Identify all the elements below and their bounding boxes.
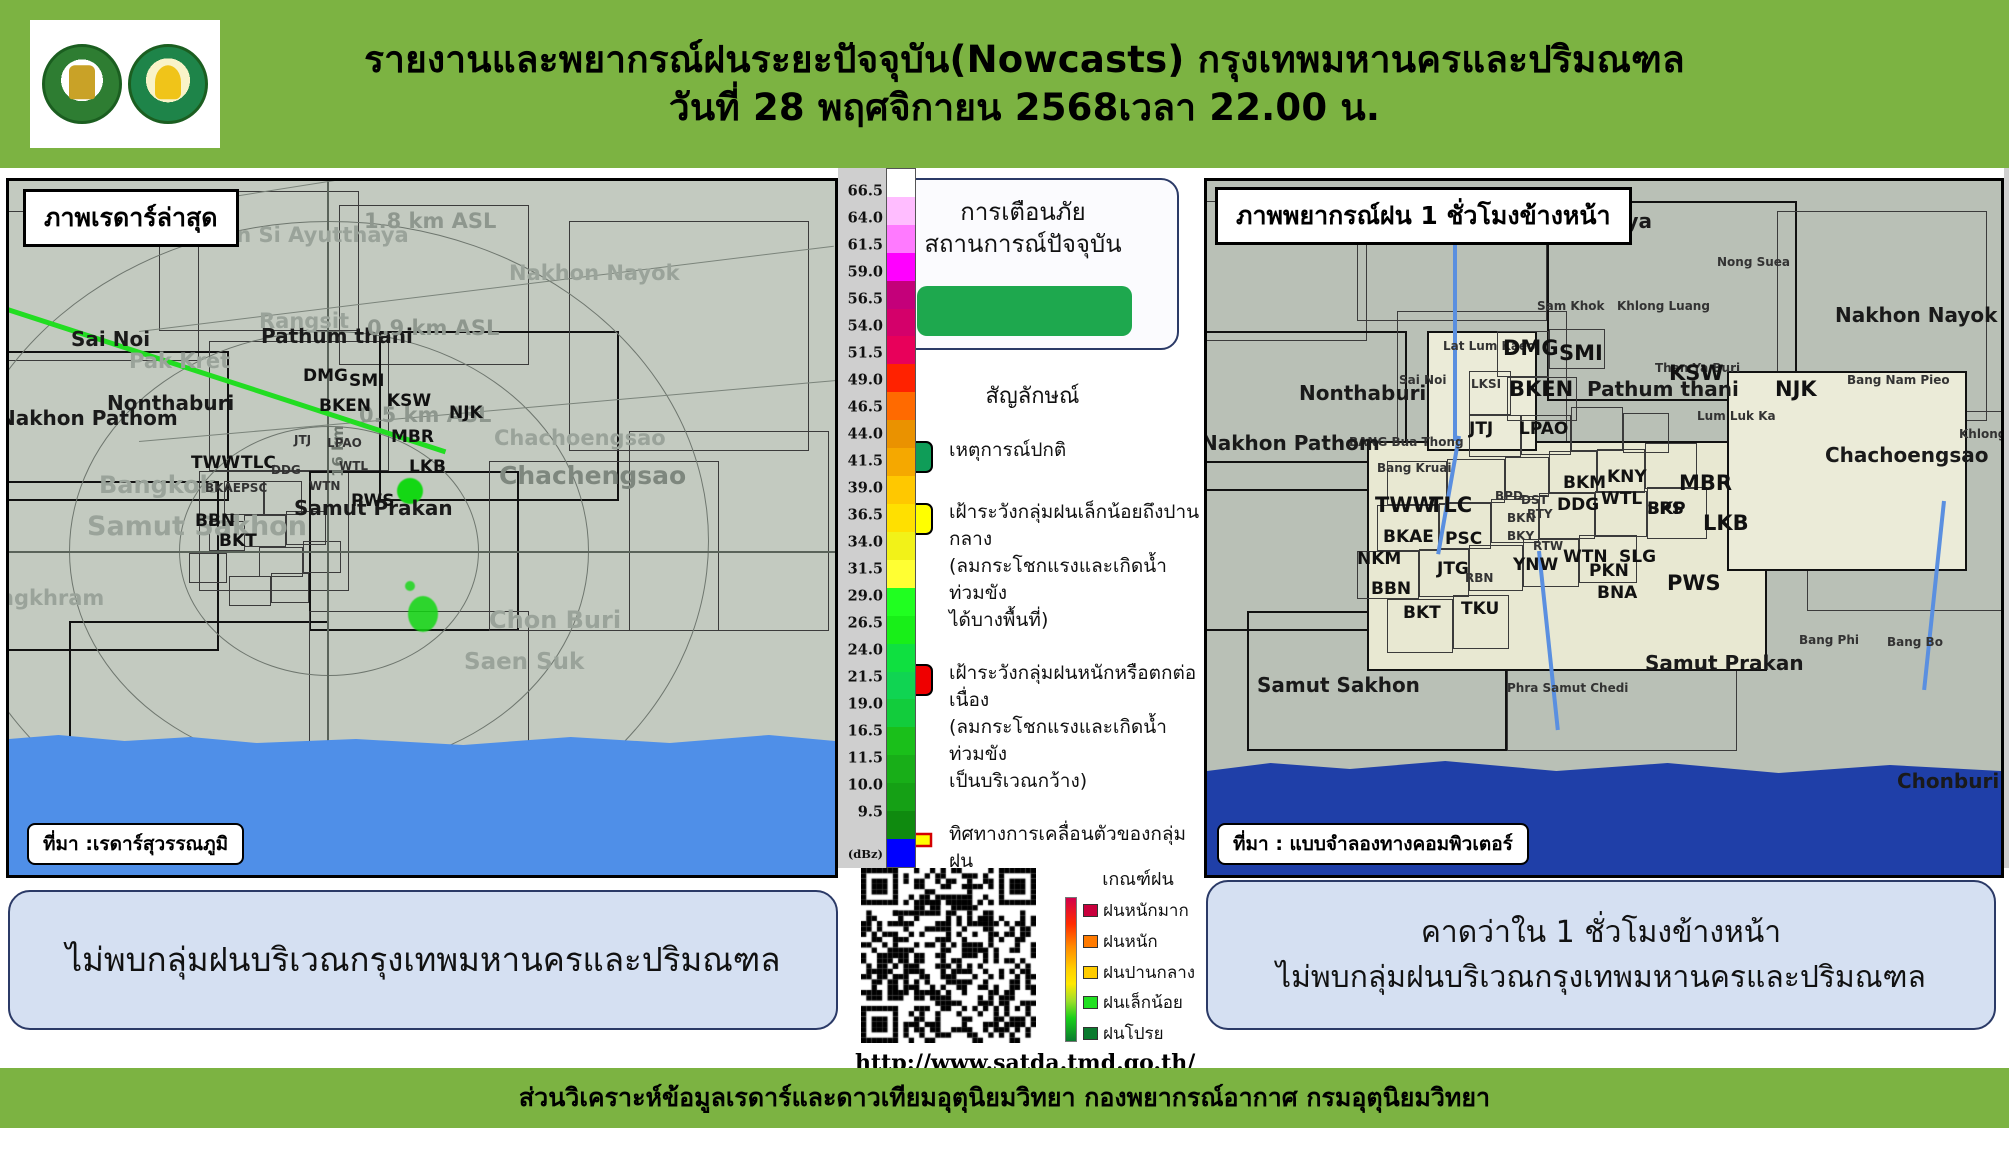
rain-label-heavy: ฝนหนัก xyxy=(1103,928,1158,955)
page-footer: ส่วนวิเคราะห์ข้อมูลเรดาร์และดาวเทียมอุตุ… xyxy=(0,1068,2009,1128)
colorbar-tick: 59.0 xyxy=(848,263,883,280)
map-label: Chachoengsao xyxy=(1825,443,1989,467)
colorbar-band xyxy=(887,309,915,337)
map-label: Bang Nam Pieo xyxy=(1847,373,1950,387)
district-code: TWW xyxy=(191,453,240,473)
rain-legend-item: ฝนโปรย xyxy=(1083,1020,1195,1047)
colorbar-tick: 31.5 xyxy=(848,560,883,577)
district-code: DDG xyxy=(271,463,301,477)
forecast-image-panel[interactable]: Suphan Buri Phra Nakhon Si Ayutthaya Non… xyxy=(1204,178,2004,878)
map-label: Sai Noi xyxy=(71,327,150,351)
district-code: BKEN xyxy=(319,396,371,416)
rain-label-drizzle: ฝนโปรย xyxy=(1103,1020,1164,1047)
map-label: Samut Prakan xyxy=(1645,651,1804,675)
district-code: RTY xyxy=(1527,507,1553,521)
radar-map-canvas: Suphan Buri Phra Nakhon Si Ayutthaya Nak… xyxy=(9,181,835,875)
district-code: RBN xyxy=(1465,571,1493,585)
map-label: Bang Kruai xyxy=(1377,461,1452,475)
district-code: MBR xyxy=(1679,471,1732,495)
colorbar-tick: 10.0 xyxy=(848,776,883,793)
main-content: Suphan Buri Phra Nakhon Si Ayutthaya Nak… xyxy=(0,168,2009,1068)
district-code: LPAO xyxy=(1519,419,1568,439)
map-label: Nakhon Pathom xyxy=(1204,431,1380,455)
colorbar-band xyxy=(887,504,915,532)
forecast-colorbar-ticks: 66.564.061.559.056.554.051.549.046.544.0… xyxy=(2004,168,2009,868)
district-code: NJK xyxy=(1775,377,1817,401)
rain-chip-heavy xyxy=(1083,935,1098,948)
map-label: Chon Buri xyxy=(489,606,621,634)
forecast-map-canvas: Suphan Buri Phra Nakhon Si Ayutthaya Non… xyxy=(1207,181,2001,875)
title-line-1: รายงานและพยากรณ์ฝนระยะปัจจุบัน(Nowcasts)… xyxy=(220,36,1829,84)
district-code: LPAO xyxy=(327,436,362,450)
rain-chip-moderate xyxy=(1083,966,1098,979)
rain-legend-item: ฝนหนักมาก xyxy=(1083,897,1195,924)
page-header: รายงานและพยากรณ์ฝนระยะปัจจุบัน(Nowcasts)… xyxy=(0,0,2009,168)
forecast-source-label: ที่มา : แบบจำลองทางคอมพิวเตอร์ xyxy=(1217,823,1529,865)
colorbar-band xyxy=(887,755,915,783)
colorbar-tick: 9.5 xyxy=(858,803,883,820)
district-code: DMG xyxy=(303,366,348,386)
map-label: Nong Suea xyxy=(1717,255,1790,269)
district-code: YNW xyxy=(1513,555,1558,575)
map-label: Lum Luk Ka xyxy=(1697,409,1776,423)
rain-legend-item: ฝนเล็กน้อย xyxy=(1083,989,1195,1016)
map-label: Nakhon Nayok xyxy=(509,261,680,285)
colorbar-band xyxy=(887,644,915,672)
district-code: KNY xyxy=(1607,467,1647,487)
qr-code[interactable] xyxy=(861,868,1036,1043)
district-code: BKT xyxy=(219,531,257,551)
colorbar-band xyxy=(887,420,915,448)
asl-label: 1.8 km ASL xyxy=(364,209,496,233)
colorbar-tick: 11.5 xyxy=(848,749,883,766)
district-code: DMG xyxy=(1503,336,1559,360)
colorbar-band xyxy=(887,616,915,644)
radar-echo-blob xyxy=(408,596,438,632)
colorbar-band xyxy=(887,169,915,197)
rain-chip-very-heavy xyxy=(1083,904,1098,917)
colorbar-tick: 54.0 xyxy=(848,317,883,334)
radar-summary-box: ไม่พบกลุ่มฝนบริเวณกรุงเทพมหานครและปริมณฑ… xyxy=(8,890,838,1030)
map-label: Bangkok xyxy=(99,471,216,499)
rain-legend-item: ฝนปานกลาง xyxy=(1083,959,1195,986)
colorbar-tick: 24.0 xyxy=(848,641,883,658)
radar-echo-blob xyxy=(405,581,415,591)
district-code: LKSI xyxy=(1471,377,1501,391)
colorbar-band xyxy=(887,672,915,700)
map-label: Chonburi xyxy=(1897,769,1999,793)
colorbar-band xyxy=(887,253,915,281)
colorbar-band xyxy=(887,560,915,588)
footer-text: ส่วนวิเคราะห์ข้อมูลเรดาร์และดาวเทียมอุตุ… xyxy=(519,1078,1490,1118)
colorbar-band xyxy=(887,532,915,560)
district-code: NJK xyxy=(449,403,483,423)
colorbar-tick: 29.0 xyxy=(848,587,883,604)
colorbar-band xyxy=(887,476,915,504)
tmd-logo xyxy=(30,20,220,148)
district-code: JTJ xyxy=(294,433,311,447)
page-title: รายงานและพยากรณ์ฝนระยะปัจจุบัน(Nowcasts)… xyxy=(220,36,2009,132)
district-code: KSW xyxy=(387,391,431,411)
colorbar-band xyxy=(887,727,915,755)
district-code: PWS xyxy=(351,491,394,511)
district-code: BKEN xyxy=(1509,377,1573,401)
colorbar-band xyxy=(887,225,915,253)
colorbar-band xyxy=(887,448,915,476)
forecast-colorbar: 66.564.061.559.056.554.051.549.046.544.0… xyxy=(2004,168,2009,868)
colorbar-band xyxy=(887,699,915,727)
rain-chip-drizzle xyxy=(1083,1027,1098,1040)
royal-seal-icon xyxy=(42,44,122,124)
colorbar-band xyxy=(887,281,915,309)
district-code: PSC xyxy=(241,481,267,495)
colorbar-band xyxy=(887,197,915,225)
colorbar-tick: 61.5 xyxy=(848,236,883,253)
district-code: BBN xyxy=(195,511,235,531)
district-code: BPD xyxy=(1495,489,1523,503)
forecast-summary-box: คาดว่าใน 1 ชั่วโมงข้างหน้า ไม่พบกลุ่มฝนบ… xyxy=(1206,880,1996,1030)
district-code: BKP xyxy=(1647,499,1686,519)
district-code: WTL xyxy=(1601,489,1642,509)
colorbar-tick: 21.5 xyxy=(848,668,883,685)
map-label: Chachengsao xyxy=(499,461,686,490)
title-line-2: วันที่ 28 พฤศจิกายน 2568เวลา 22.00 น. xyxy=(220,84,1829,132)
rain-legend-gradient xyxy=(1065,897,1077,1042)
map-label: Nakhon Nayok xyxy=(1835,303,1997,327)
map-label: Khlong xyxy=(1959,427,2004,441)
district-code: SMI xyxy=(1559,341,1603,365)
rain-legend-title: เกณฑ์ฝน xyxy=(1051,864,1211,893)
map-label: Nakhon Pathom xyxy=(6,406,178,430)
alert-status-badge xyxy=(917,286,1132,336)
district-code: RTW xyxy=(1533,539,1563,553)
district-code: BBN xyxy=(1371,579,1411,599)
colorbar-tick: 51.5 xyxy=(848,344,883,361)
district-code: BKAE xyxy=(205,481,241,495)
district-code: LKB xyxy=(409,457,446,477)
radar-colorbar: 66.564.061.559.056.554.051.549.046.544.0… xyxy=(838,168,922,868)
radar-crosshair-horizontal xyxy=(9,551,838,553)
district-code: TKU xyxy=(1461,599,1499,619)
district-code: LKB xyxy=(1703,511,1749,535)
legend-label-normal: เหตุการณ์ปกติ xyxy=(949,437,1066,464)
radar-summary-text: ไม่พบกลุ่มฝนบริเวณกรุงเทพมหานครและปริมณฑ… xyxy=(66,937,781,983)
colorbar-band xyxy=(887,588,915,616)
legend-label-watch-heavy: เฝ้าระวังกลุ่มฝนหนักหรือตกต่อเนื่อง (ลมก… xyxy=(949,660,1200,795)
colorbar-tick: 26.5 xyxy=(848,614,883,631)
forecast-panel-title: ภาพพยากรณ์ฝน 1 ชั่วโมงข้างหน้า xyxy=(1215,187,1632,245)
legend-label-watch-light: เฝ้าระวังกลุ่มฝนเล็กน้อยถึงปานกลาง (ลมกร… xyxy=(949,499,1200,634)
colorbar-tick: 46.5 xyxy=(848,398,883,415)
district-code: BKT xyxy=(1403,603,1441,623)
colorbar-unit: (dBz) xyxy=(848,847,883,861)
district-code: BKAE xyxy=(1383,527,1434,547)
rain-legend-items: ฝนหนักมาก ฝนหนัก ฝนปานกลาง ฝนเล็กน้ xyxy=(1083,897,1195,1047)
colorbar-tick: 19.0 xyxy=(848,695,883,712)
district-code: BNA xyxy=(1597,583,1637,603)
forecast-summary-line-1: คาดว่าใน 1 ชั่วโมงข้างหน้า xyxy=(1421,910,1781,955)
map-label: Samut Sakhon xyxy=(1257,673,1420,697)
colorbar-band xyxy=(887,783,915,811)
district-code: PWS xyxy=(1667,571,1721,595)
colorbar-band xyxy=(887,364,915,392)
district-code: DDG xyxy=(1557,495,1599,515)
map-label: Saen Suk xyxy=(464,649,584,675)
colorbar-band xyxy=(887,336,915,364)
district-code: TWW xyxy=(1375,493,1436,517)
map-label: Sam Khok xyxy=(1537,299,1605,313)
district-code: NKM xyxy=(1357,549,1401,569)
district-code: WTL xyxy=(339,459,368,473)
radar-colorbar-ticks: 66.564.061.559.056.554.051.549.046.544.0… xyxy=(838,168,886,868)
colorbar-tick: 16.5 xyxy=(848,722,883,739)
district-code: SMI xyxy=(349,371,385,391)
map-label: Rangsit xyxy=(259,309,349,333)
colorbar-band xyxy=(887,811,915,839)
map-label: Bang Phi xyxy=(1799,633,1859,647)
colorbar-tick: 66.5 xyxy=(848,182,883,199)
colorbar-band xyxy=(887,392,915,420)
district-code: BKM xyxy=(1563,473,1606,493)
radar-panel-title: ภาพเรดาร์ล่าสุด xyxy=(23,189,239,247)
forecast-summary-line-2: ไม่พบกลุ่มฝนบริเวณกรุงเทพมหานครและปริมณฑ… xyxy=(1276,955,1926,1000)
rain-label-very-heavy: ฝนหนักมาก xyxy=(1103,897,1189,924)
map-label: Bang Bo xyxy=(1887,635,1943,649)
district-code: PKN xyxy=(1589,561,1629,581)
colorbar-tick: 64.0 xyxy=(848,209,883,226)
district-code: PSC xyxy=(1445,529,1482,549)
radar-image-panel[interactable]: Suphan Buri Phra Nakhon Si Ayutthaya Nak… xyxy=(6,178,838,878)
colorbar-tick: 39.0 xyxy=(848,479,883,496)
district-code: WTN xyxy=(309,479,340,493)
district-code: JTJ xyxy=(1469,419,1493,439)
colorbar-tick: 34.0 xyxy=(848,533,883,550)
colorbar-tick: 56.5 xyxy=(848,290,883,307)
colorbar-tick: 44.0 xyxy=(848,425,883,442)
colorbar-tick: 36.5 xyxy=(848,506,883,523)
colorbar-band xyxy=(887,839,915,867)
map-label: Phra Samut Chedi xyxy=(1507,681,1628,695)
rain-chip-light xyxy=(1083,996,1098,1009)
radar-colorbar-strip xyxy=(886,168,916,868)
map-label: Pak Kret xyxy=(129,349,230,373)
map-label: ngkhram xyxy=(6,586,104,610)
district-code: DST xyxy=(1521,493,1548,507)
district-code: MBR xyxy=(391,427,434,447)
district-code: BKY xyxy=(1507,529,1534,543)
map-label: Khlong Luang xyxy=(1617,299,1710,313)
asl-label: 0.9 km ASL xyxy=(367,316,499,340)
map-label: Chachoengsao xyxy=(494,426,666,450)
radar-source-label: ที่มา :เรดาร์สุวรรณภูมิ xyxy=(27,823,244,865)
rain-label-moderate: ฝนปานกลาง xyxy=(1103,959,1195,986)
rain-label-light: ฝนเล็กน้อย xyxy=(1103,989,1183,1016)
district-code: TLC xyxy=(1429,493,1472,517)
colorbar-tick: 49.0 xyxy=(848,371,883,388)
map-label: Nonthaburi xyxy=(1299,381,1426,405)
colorbar-tick: 41.5 xyxy=(848,452,883,469)
tmd-seal-icon xyxy=(128,44,208,124)
rain-legend-item: ฝนหนัก xyxy=(1083,928,1195,955)
district-code: KSW xyxy=(1669,361,1724,385)
rain-intensity-legend: เกณฑ์ฝน ฝนหนักมาก ฝนหนัก xyxy=(1051,864,1211,1047)
